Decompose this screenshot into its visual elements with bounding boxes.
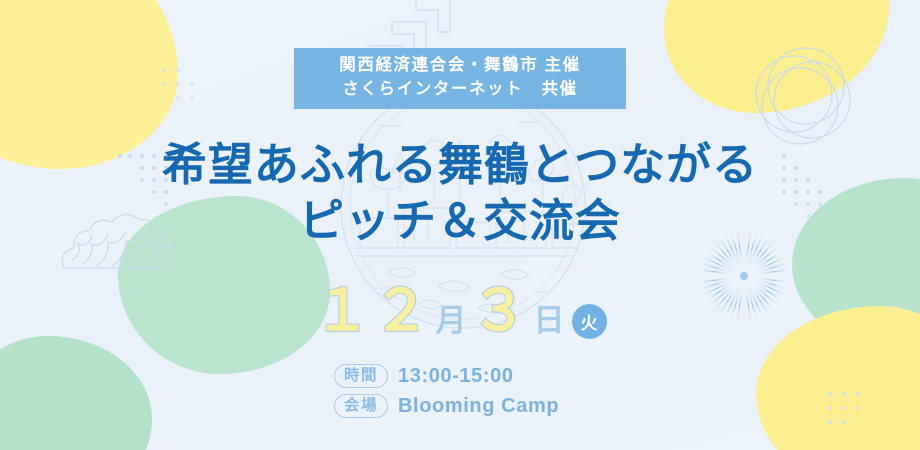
- event-detail-row-time: 時間 13:00-15:00: [0, 364, 920, 388]
- event-date: １２ 月 ３ 日 火: [0, 283, 920, 340]
- organizer-band: 関西経済連合会・舞鶴市 主催 さくらインターネット 共催: [294, 48, 626, 109]
- page-title: 希望あふれる舞鶴とつながる ピッチ＆交流会: [0, 137, 920, 249]
- dot-cluster-top-center-icon: [158, 64, 228, 124]
- date-month-unit: 月: [436, 305, 467, 336]
- organizer-line-2: さくらインターネット 共催: [294, 77, 626, 101]
- time-label: 時間: [334, 364, 388, 388]
- venue-value: Blooming Camp: [398, 395, 559, 418]
- venue-label: 会場: [334, 394, 388, 418]
- event-details: 時間 13:00-15:00 会場 Blooming Camp: [0, 364, 920, 424]
- time-value: 13:00-15:00: [398, 365, 514, 388]
- decor-blob-yellow-top-right: [664, 0, 889, 113]
- date-day-unit: 日: [534, 305, 565, 336]
- title-line-1: 希望あふれる舞鶴とつながる: [0, 137, 920, 193]
- event-detail-row-venue: 会場 Blooming Camp: [0, 394, 920, 418]
- event-banner: 関西経済連合会・舞鶴市 主催 さくらインターネット 共催 希望あふれる舞鶴とつな…: [0, 0, 920, 450]
- title-line-2: ピッチ＆交流会: [0, 193, 920, 249]
- date-day-number: ３: [471, 283, 530, 340]
- weekday-badge: 火: [572, 304, 607, 339]
- organizer-line-1: 関西経済連合会・舞鶴市 主催: [294, 53, 626, 77]
- date-month-number: １２: [314, 283, 432, 340]
